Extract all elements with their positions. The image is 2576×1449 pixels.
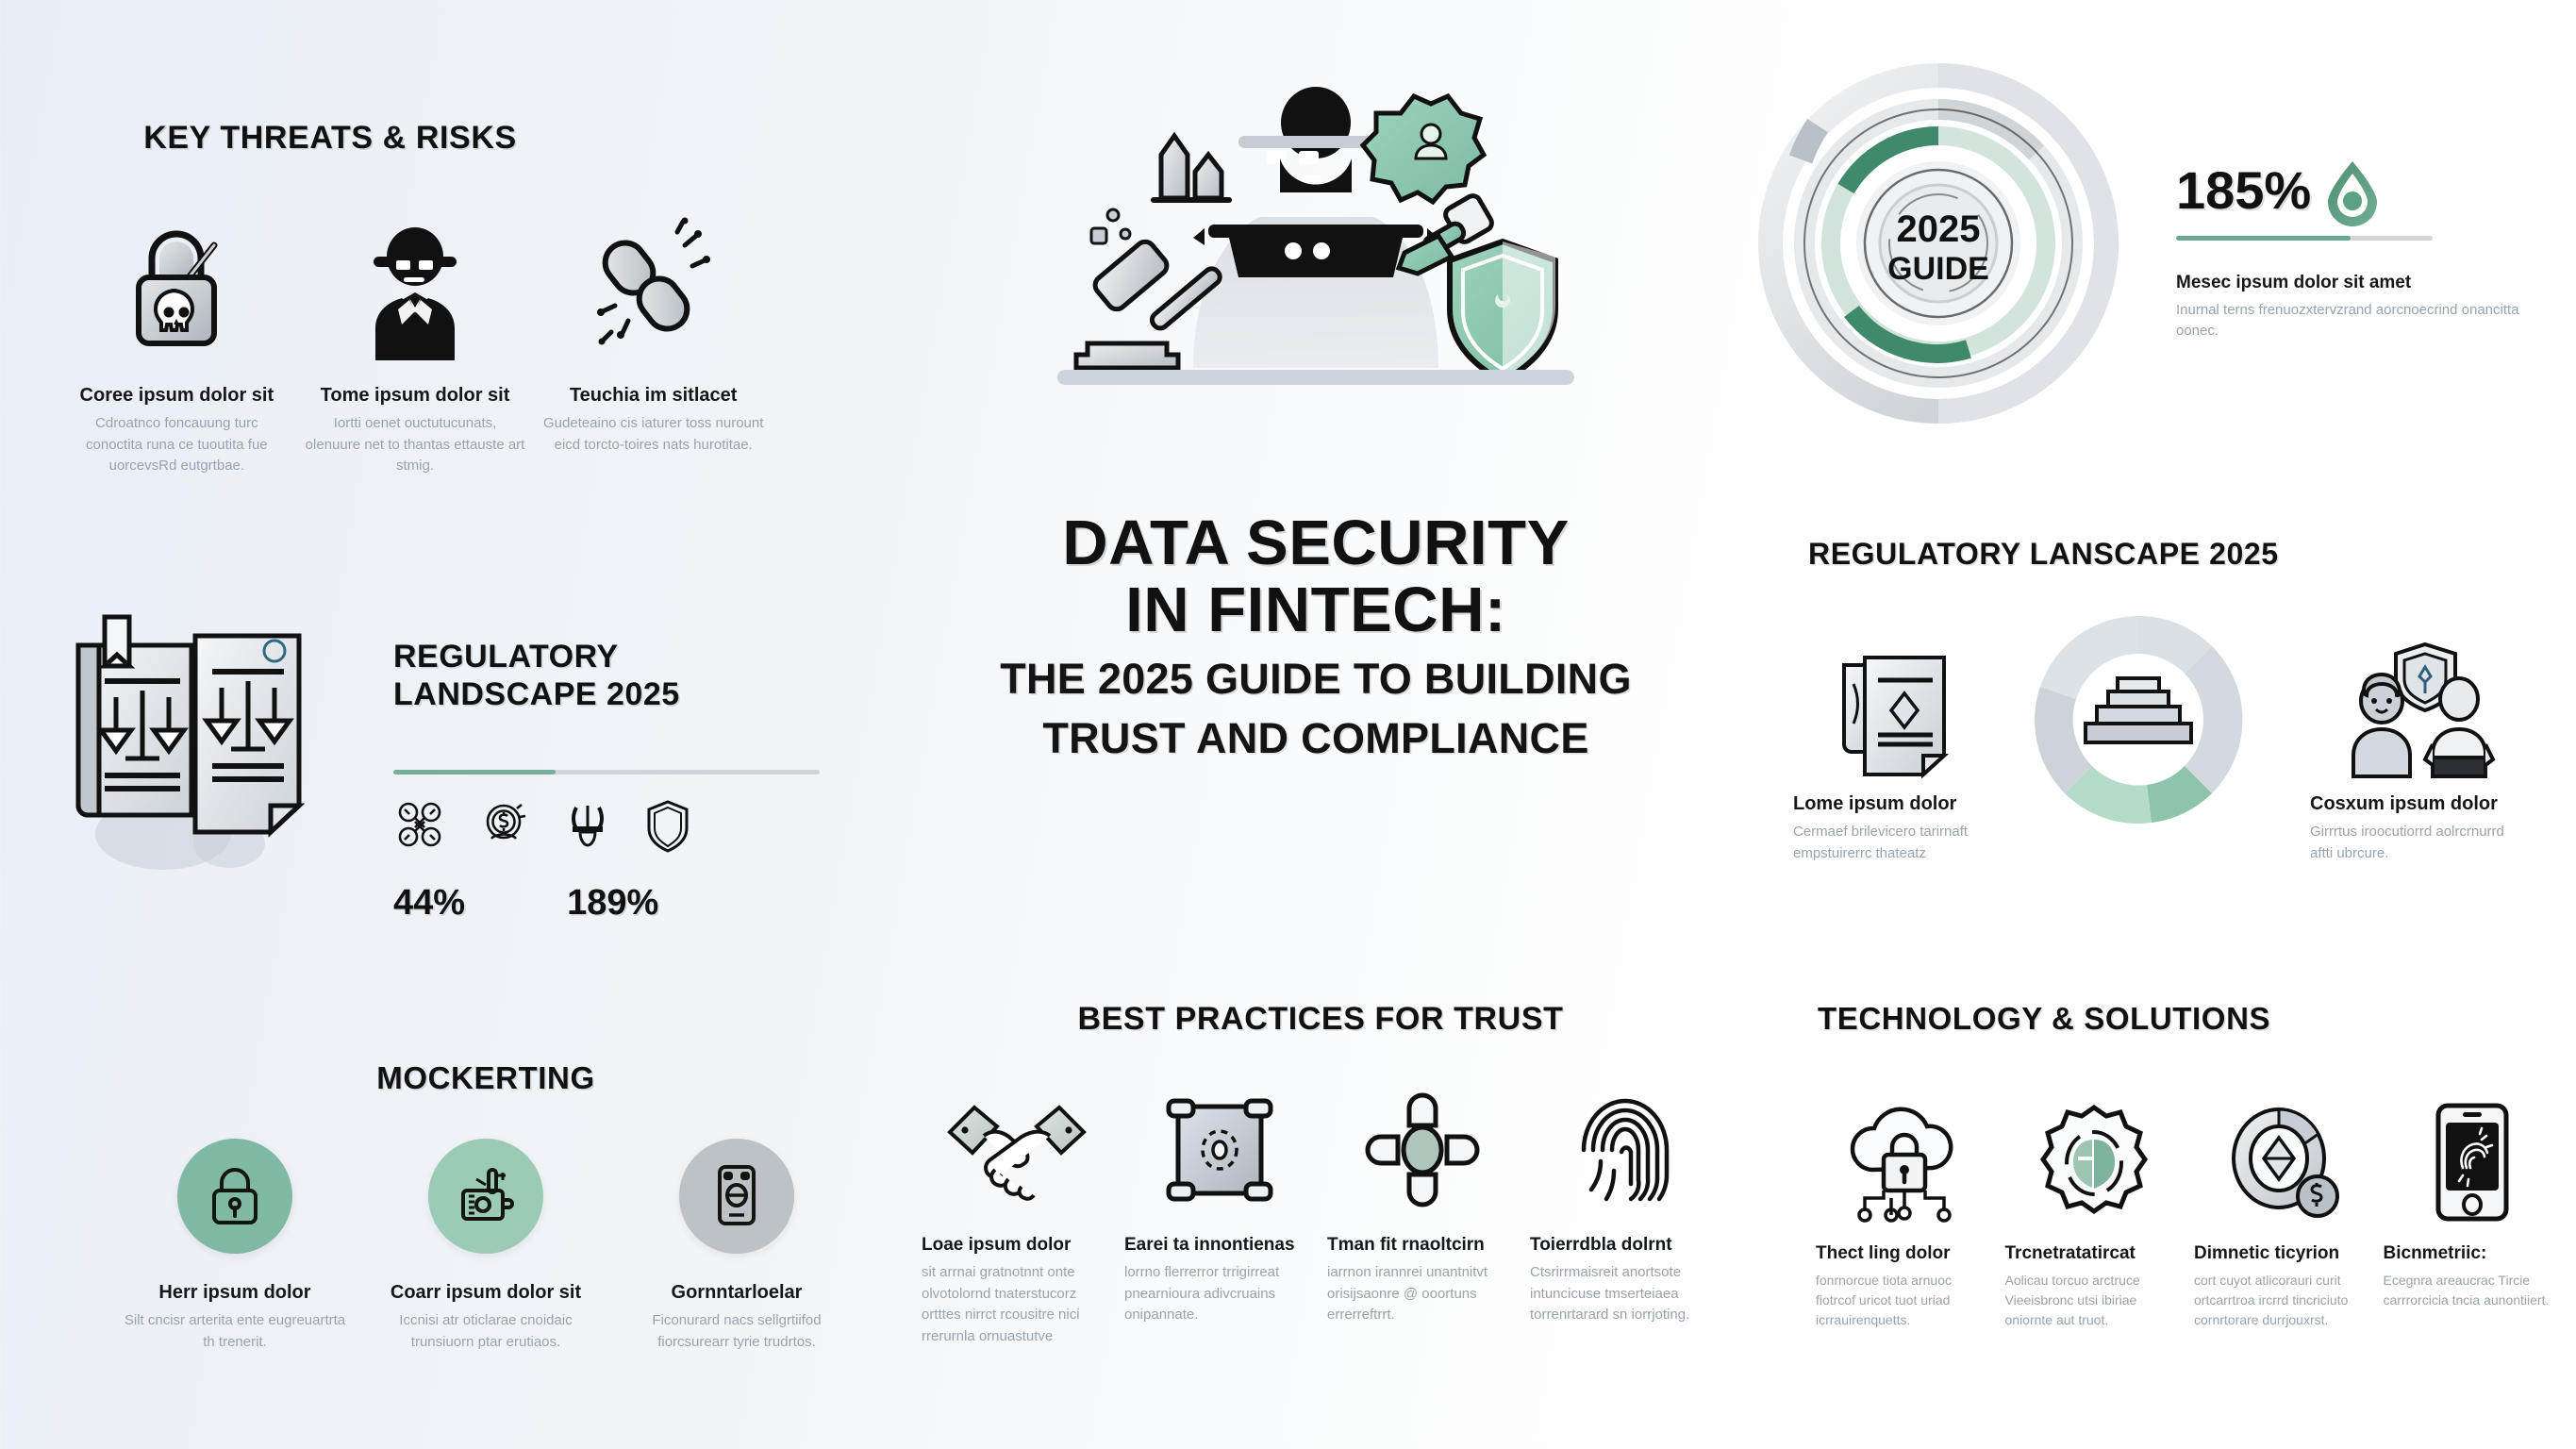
item-body: Aolicau torcuo arctruce Vieeisbronc utsi…	[2005, 1271, 2184, 1330]
coin-ring-icon	[2222, 1091, 2343, 1223]
best-practices-item-row: Loae ipsum dolor sit arrnai gratnotnnt o…	[910, 1088, 1731, 1347]
donut-chart-tiers-icon	[2025, 608, 2308, 841]
best-practices-item: Loae ipsum dolor sit arrnai gratnotnnt o…	[922, 1088, 1111, 1347]
hero-illustration	[1023, 57, 1608, 387]
item-body: Silt cncisr arterita ente eugreuartrta t…	[118, 1310, 352, 1353]
broken-chain-icon	[594, 205, 713, 360]
item-title: Coree ipsum dolor sit	[66, 385, 288, 407]
mockerting-circle	[428, 1139, 543, 1254]
item-title: Thect ling dolor	[1816, 1243, 1994, 1264]
regulatory-icon-row	[393, 798, 837, 851]
mockerting-circle	[177, 1139, 292, 1254]
item-title: Herr ipsum dolor	[118, 1282, 352, 1304]
mockerting-item: Gornntarloelar Ficonurard nacs sellgrtii…	[620, 1139, 854, 1353]
gear-shield-icon	[2035, 1091, 2153, 1223]
item-title: Earei ta innontienas	[1124, 1235, 1314, 1256]
best-practices-item: Earei ta innontienas lorrno flerrerror t…	[1124, 1088, 1314, 1347]
item-body: fonrnorcue tiota arnuoc fiotrcof uricot …	[1816, 1271, 1994, 1330]
main-title-block: DATA SECURITY IN FINTECH: THE 2025 GUIDE…	[877, 509, 1754, 763]
mockerting-item: Coarr ipsum dolor sit Iccnisi atr oticla…	[369, 1139, 603, 1353]
item-title: Trcnetratatircat	[2005, 1243, 2184, 1264]
key-cross-icon	[1364, 1088, 1481, 1212]
item-body: lorrno flerrerror trrigirreat pnearniour…	[1124, 1262, 1314, 1326]
section-technology-solutions: TECHNOLOGY & SOLUTIONS	[1797, 1002, 2576, 1330]
fingerprint-icon	[1574, 1088, 1676, 1212]
best-practices-item: Tman fit rnaoltcirn iarrnon irannrei una…	[1327, 1088, 1517, 1347]
heading-line-1: REGULATORY	[393, 638, 837, 675]
item-body: Girrrtus iroocutiorrd aolrcrnurrd aftti …	[2310, 822, 2527, 864]
item-body: Cdroatnco foncauung turc conoctita runa …	[66, 413, 288, 477]
section-regulatory-landscape-left: REGULATORY LANDSCAPE 2025	[42, 583, 854, 960]
stat-value: 189%	[567, 883, 658, 924]
item-title: Loae ipsum dolor	[922, 1235, 1111, 1256]
item-title: Tome ipsum dolor sit	[305, 385, 526, 407]
mockerting-item: Herr ipsum dolor Silt cncisr arterita en…	[118, 1139, 352, 1353]
section-heading-regulatory-right: REGULATORY LANSCAPE 2025	[1808, 538, 2576, 571]
concentric-rings-icon: 2025 GUIDE	[1750, 55, 2127, 432]
regulatory-right-item: Lome ipsum dolor Cermaef brilevicero tar…	[1793, 635, 2010, 864]
technology-item: Trcnetratatircat Aolicau torcuo arctruce…	[2005, 1091, 2184, 1330]
mobile-device-icon	[713, 1163, 760, 1229]
item-body: iarrnon irannrei unantnitvt orisijsaonre…	[1327, 1262, 1517, 1326]
mockerting-circle	[679, 1139, 794, 1254]
law-books-scales-icon	[59, 608, 333, 881]
item-body: Iortti oenet ouctutucunats, olenuure net…	[305, 413, 526, 477]
hacker-person-icon	[355, 205, 475, 360]
scales-balance-icon	[561, 800, 614, 849]
heading-line-2: LANDSCAPE 2025	[393, 675, 837, 713]
section-mockerting: MOCKERTING Herr ipsum dolor Silt cncisr …	[99, 1061, 873, 1353]
item-body: Ficonurard nacs sellgrtiifod fiorcsurear…	[620, 1310, 854, 1353]
section-heading-regulatory-left: REGULATORY LANDSCAPE 2025	[393, 638, 837, 713]
item-body: Iccnisi atr oticlarae cnoidaic trunsiuor…	[369, 1310, 603, 1353]
item-title: Lome ipsum dolor	[1793, 793, 2010, 815]
regulatory-stats-row: 44% 189%	[393, 883, 837, 924]
section-heading-key-threats: KEY THREATS & RISKS	[38, 121, 623, 156]
ring-year-label: 2025	[1897, 208, 1981, 250]
biometric-phone-icon	[2427, 1091, 2518, 1223]
technology-item: Dimnetic ticyrion cort cuyot atlicorauri…	[2194, 1091, 2372, 1330]
best-practices-item: Toierrdbla dolrnt Ctsrirrmaisreit anorts…	[1530, 1088, 1720, 1347]
section-heading-technology-solutions: TECHNOLOGY & SOLUTIONS	[1818, 1002, 2576, 1036]
droplet-icon	[2324, 158, 2381, 223]
cloud-lock-icon	[1844, 1091, 1965, 1223]
shield-outline-icon	[646, 799, 690, 850]
compliance-network-icon	[393, 798, 446, 851]
item-body: sit arrnai gratnotnnt onte olvotolornd t…	[922, 1262, 1111, 1347]
title-line-1: DATA SECURITY	[877, 509, 1754, 576]
people-shield-icon	[2310, 635, 2527, 784]
section-guide-badge: 2025 GUIDE 185% Mesec ipsum dolo	[1750, 55, 2576, 432]
title-line-2: IN FINTECH:	[877, 576, 1754, 643]
section-best-practices: BEST PRACTICES FOR TRUST	[910, 1002, 1731, 1347]
regulatory-progress-bar	[393, 770, 820, 774]
handshake-icon	[946, 1088, 1088, 1212]
stat-title: Mesec ipsum dolor sit amet	[2176, 273, 2553, 293]
item-title: Dimnetic ticyrion	[2194, 1243, 2372, 1264]
item-title: Bicnmetriic:	[2384, 1243, 2562, 1264]
item-body: Ecegnra areaucrac Tircie carrrorcicia tn…	[2384, 1271, 2562, 1310]
section-regulatory-landscape-right: REGULATORY LANSCAPE 2025	[1787, 538, 2576, 924]
key-threats-item: Teuchia im sitlacet Gudeteaino cis iatur…	[542, 205, 764, 477]
secure-server-icon	[454, 1164, 518, 1228]
section-heading-mockerting: MOCKERTING	[99, 1061, 873, 1095]
dollar-circle-icon	[478, 799, 529, 850]
item-title: Coarr ipsum dolor sit	[369, 1282, 603, 1304]
stat-body: Inurnal terns frenuozxtervzrand aorcnoec…	[2176, 300, 2553, 342]
padlock-icon	[206, 1164, 264, 1228]
item-title: Gornntarloelar	[620, 1282, 854, 1304]
section-heading-best-practices: BEST PRACTICES FOR TRUST	[910, 1002, 1731, 1037]
item-title: Cosxum ipsum dolor	[2310, 793, 2527, 815]
section-key-threats: KEY THREATS & RISKS	[38, 121, 792, 477]
item-title: Toierrdbla dolrnt	[1530, 1235, 1720, 1256]
key-threats-item: Tome ipsum dolor sit Iortti oenet ouctut…	[305, 205, 526, 477]
title-line-4: TRUST AND COMPLIANCE	[877, 714, 1754, 762]
stat-value: 44%	[393, 883, 465, 924]
vault-safe-icon	[1161, 1088, 1278, 1212]
title-line-3: THE 2025 GUIDE TO BUILDING	[877, 655, 1754, 703]
stat-value: 185%	[2176, 164, 2311, 217]
item-title: Tman fit rnaoltcirn	[1327, 1235, 1517, 1256]
item-title: Teuchia im sitlacet	[542, 385, 764, 407]
item-body: Ctsrirrmaisreit anortsote intuncicuse tm…	[1530, 1262, 1720, 1326]
ring-guide-label: GUIDE	[1887, 251, 1989, 287]
key-threats-item: Coree ipsum dolor sit Cdroatnco foncauun…	[66, 205, 288, 477]
item-body: cort cuyot atlicorauri curit ortcarrtroa…	[2194, 1271, 2372, 1330]
stat-progress-bar	[2176, 236, 2433, 241]
item-body: Cermaef brilevicero tarirnaft empstuirer…	[1793, 822, 2010, 864]
policy-documents-icon	[1793, 635, 2010, 784]
mockerting-item-row: Herr ipsum dolor Silt cncisr arterita en…	[99, 1139, 873, 1353]
technology-item-row: Thect ling dolor fonrnorcue tiota arnuoc…	[1797, 1091, 2576, 1330]
regulatory-right-item: Cosxum ipsum dolor Girrrtus iroocutiorrd…	[2310, 635, 2527, 864]
padlock-skull-icon	[124, 205, 229, 360]
key-threats-item-row: Coree ipsum dolor sit Cdroatnco foncauun…	[38, 205, 792, 477]
technology-item: Bicnmetriic: Ecegnra areaucrac Tircie ca…	[2384, 1091, 2562, 1330]
technology-item: Thect ling dolor fonrnorcue tiota arnuoc…	[1816, 1091, 1994, 1330]
infographic-canvas: KEY THREATS & RISKS	[0, 0, 2576, 1449]
item-body: Gudeteaino cis iaturer toss nurount eicd…	[542, 413, 764, 456]
stat-185-block: 185% Mesec ipsum dolor sit amet Inurnal …	[2176, 158, 2553, 342]
